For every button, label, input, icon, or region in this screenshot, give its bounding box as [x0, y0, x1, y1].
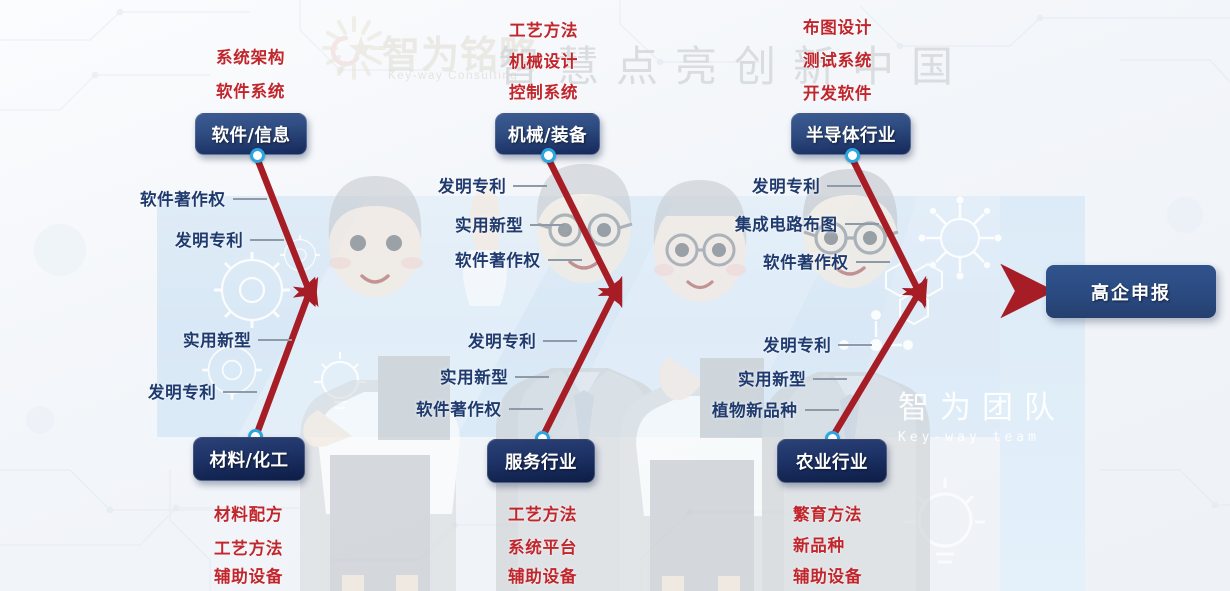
target-box-application[interactable]: 高企申报	[1046, 265, 1216, 318]
leader-line	[509, 408, 543, 410]
leader-line	[827, 185, 861, 187]
keyword-machinery-equipment-1: 机械设计	[509, 48, 578, 72]
ip-type-label: 发明专利	[148, 383, 216, 402]
ip-type-label: 集成电路布图	[735, 215, 838, 234]
leader-line	[845, 223, 879, 225]
ip-type-label: 实用新型	[440, 368, 508, 387]
team-watermark-en: Key-way team	[898, 430, 1066, 445]
team-watermark-cn: 智为团队	[898, 382, 1066, 427]
ip-type-label: 软件著作权	[140, 190, 226, 209]
leader-line	[813, 378, 847, 380]
ip-type-semiconductor-1: 集成电路布图	[735, 211, 879, 235]
keyword-machinery-equipment-2: 控制系统	[509, 79, 578, 103]
keyword-materials-chemical-0: 材料配方	[214, 501, 283, 525]
leader-line	[805, 409, 839, 411]
keyword-service-industry-0: 工艺方法	[508, 501, 577, 525]
ip-type-label: 发明专利	[468, 332, 536, 351]
keyword-semiconductor-0: 布图设计	[803, 14, 872, 38]
leader-line	[250, 239, 284, 241]
ip-type-label: 软件著作权	[763, 253, 849, 272]
category-box-software-information[interactable]: 软件/信息	[195, 113, 307, 155]
fishbone-diagram: 智为铭略 Key-way Consulting 智慧点亮创新中国 智为团队 Ke…	[0, 0, 1230, 591]
category-box-agriculture[interactable]: 农业行业	[777, 439, 887, 483]
keyword-agriculture-2: 辅助设备	[793, 563, 862, 587]
connector-dot-machinery-equipment	[541, 148, 556, 163]
ip-type-label: 植物新品种	[712, 401, 798, 420]
keyword-materials-chemical-1: 工艺方法	[214, 535, 283, 559]
keyword-service-industry-2: 辅助设备	[508, 563, 577, 587]
ip-type-semiconductor-0: 发明专利	[752, 173, 861, 197]
leader-line	[223, 391, 257, 393]
ip-type-semiconductor-2: 软件著作权	[763, 249, 890, 273]
keyword-agriculture-0: 繁育方法	[793, 501, 862, 525]
ip-type-label: 发明专利	[752, 177, 820, 196]
ip-type-label: 软件著作权	[455, 251, 541, 270]
leader-line	[515, 376, 549, 378]
team-watermark: 智为团队 Key-way team	[898, 382, 1066, 445]
ip-type-agriculture-0: 发明专利	[763, 332, 872, 356]
ip-type-service-industry-0: 发明专利	[468, 328, 577, 352]
ip-type-software-information-1: 发明专利	[175, 227, 284, 251]
keyword-software-information-1: 软件系统	[216, 78, 285, 102]
connector-dot-software-information	[250, 148, 265, 163]
branch-arrow-materials-chemical	[256, 296, 308, 436]
ip-type-machinery-equipment-2: 软件著作权	[455, 247, 582, 271]
ip-type-service-industry-1: 实用新型	[440, 364, 549, 388]
ip-type-label: 发明专利	[438, 177, 506, 196]
keyword-semiconductor-2: 开发软件	[803, 80, 872, 104]
leader-line	[543, 340, 577, 342]
connector-dot-semiconductor	[845, 148, 860, 163]
ip-type-label: 实用新型	[738, 370, 806, 389]
keyword-materials-chemical-2: 辅助设备	[214, 563, 283, 587]
branch-arrow-software-information	[257, 158, 308, 288]
keyword-semiconductor-1: 测试系统	[803, 47, 872, 71]
keyword-agriculture-1: 新品种	[793, 532, 845, 556]
ip-type-label: 实用新型	[455, 216, 523, 235]
ip-type-label: 发明专利	[763, 336, 831, 355]
leader-line	[233, 198, 267, 200]
ip-type-service-industry-2: 软件著作权	[416, 396, 543, 420]
category-box-service-industry[interactable]: 服务行业	[487, 439, 595, 483]
ip-type-label: 实用新型	[183, 331, 251, 350]
ip-type-materials-chemical-0: 实用新型	[183, 327, 292, 351]
ip-type-machinery-equipment-0: 发明专利	[438, 173, 547, 197]
ip-type-label: 发明专利	[175, 231, 243, 250]
branch-arrow-service-industry	[543, 296, 613, 436]
company-logo-watermark: 智为铭略 Key-way Consulting	[320, 14, 510, 92]
ip-type-agriculture-1: 实用新型	[738, 366, 847, 390]
ip-type-machinery-equipment-1: 实用新型	[455, 212, 564, 236]
ip-type-software-information-0: 软件著作权	[140, 186, 267, 210]
leader-line	[530, 224, 564, 226]
leader-line	[838, 344, 872, 346]
keyword-software-information-0: 系统架构	[216, 44, 285, 68]
leader-line	[258, 339, 292, 341]
keyword-service-industry-1: 系统平台	[508, 534, 577, 558]
ip-type-materials-chemical-1: 发明专利	[148, 379, 257, 403]
keyword-machinery-equipment-0: 工艺方法	[509, 17, 578, 41]
leader-line	[548, 259, 582, 261]
ip-type-agriculture-2: 植物新品种	[712, 397, 839, 421]
category-box-materials-chemical[interactable]: 材料/化工	[193, 437, 305, 481]
leader-line	[856, 261, 890, 263]
ip-type-label: 软件著作权	[416, 400, 502, 419]
leader-line	[513, 185, 547, 187]
